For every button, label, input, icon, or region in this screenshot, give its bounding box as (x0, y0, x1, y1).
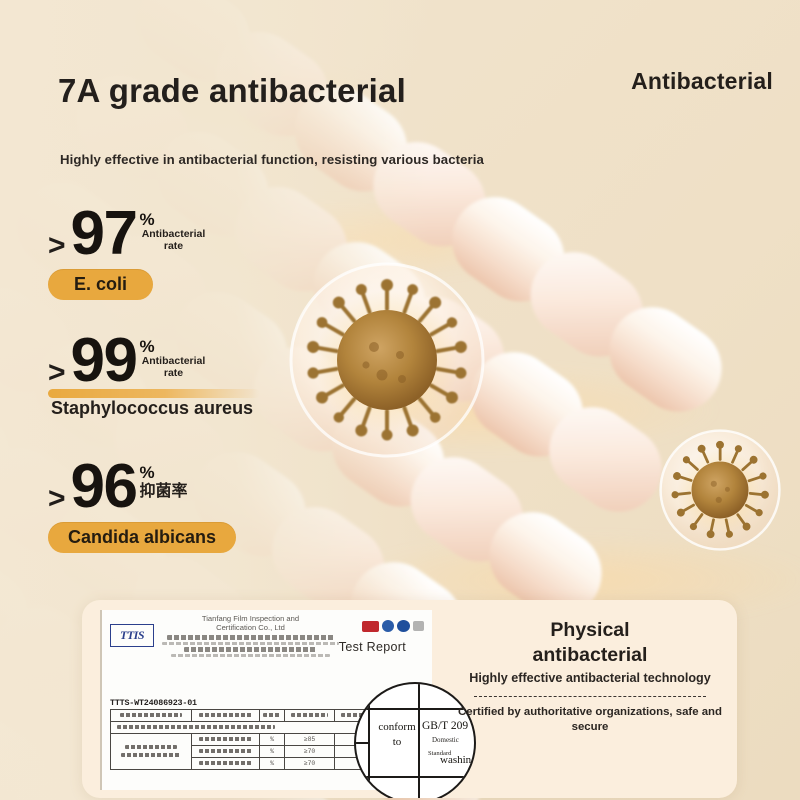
corner-label-antibacterial: Antibacterial (631, 68, 773, 95)
desc-text (199, 749, 251, 753)
divider (474, 696, 706, 697)
standard-cell: ≥85 (285, 734, 335, 746)
organism-text: Staphylococcus aureus (51, 398, 253, 418)
item-text (125, 745, 176, 749)
organism-badge-ecoli: E. coli (48, 269, 153, 300)
page-subtitle: Highly effective in antibacterial functi… (60, 152, 484, 167)
stat-block-ecoli: > 97 % Antibacterial rate E. coli (48, 205, 208, 300)
stat-rate-label: Antibacterial rate (140, 356, 208, 380)
report-title: Test Report (339, 640, 406, 654)
company-line-2: Certification Co., Ltd (158, 623, 343, 632)
stat-value: 97 (71, 205, 137, 262)
accreditation-badge-icon (382, 620, 394, 632)
company-line-1: Tianfang Film Inspection and (158, 614, 343, 623)
sample-text (117, 725, 275, 729)
company-chinese-sub-1 (162, 642, 340, 645)
col-desc (191, 710, 259, 722)
promo-title-line2: antibacterial (450, 643, 730, 668)
magnifier-conform-text: conform to (373, 720, 421, 750)
company-chinese-line-1 (167, 635, 334, 640)
product-infographic: 7A grade antibacterial Highly effective … (0, 0, 800, 800)
test-item (111, 734, 192, 770)
unit-cell: % (260, 734, 285, 746)
magnifier-domestic-text: Domestic (432, 736, 459, 744)
header-text (291, 713, 328, 717)
organism-desc (191, 734, 259, 746)
percent-symbol: % (140, 211, 208, 228)
magnifier-washing-text: washing (440, 754, 476, 766)
unit-cell: % (260, 758, 285, 770)
stat-rate-label: Antibacterial rate (140, 229, 208, 253)
standard-cell: ≥70 (285, 746, 335, 758)
header-text (263, 713, 281, 717)
comparator-symbol: > (48, 231, 66, 261)
certificate-header: TTIS Tianfang Film Inspection and Certif… (102, 610, 432, 662)
percent-symbol: % (140, 464, 188, 481)
comparator-symbol: > (48, 358, 66, 388)
col-item (111, 710, 192, 722)
promo-text-block: Physical antibacterial Highly effective … (450, 618, 730, 735)
ttis-logo-icon: TTIS (110, 624, 154, 647)
certification-mark-icon (413, 621, 424, 631)
promo-subtitle: Highly effective antibacterial technolog… (450, 670, 730, 687)
stat-rate-label-cn: 抑菌率 (140, 483, 188, 501)
header-text (199, 713, 251, 717)
virus-illustration-small (655, 425, 785, 555)
dvas-badge-icon (397, 620, 410, 632)
company-chinese-sub-2 (171, 654, 330, 657)
promo-title-line1: Physical (450, 618, 730, 643)
company-chinese-line-2 (184, 647, 317, 652)
cnas-badge-icon (362, 621, 379, 632)
desc-text (199, 737, 251, 741)
certification-company: Tianfang Film Inspection and Certificati… (158, 614, 343, 657)
accreditation-badges (362, 620, 424, 632)
highlight-bar (48, 389, 260, 398)
col-unit (260, 710, 285, 722)
organism-label-staph: Staphylococcus aureus (48, 398, 256, 419)
stat-block-staph: > 99 % Antibacterial rate Staphylococcus… (48, 332, 256, 419)
percent-symbol: % (140, 338, 208, 355)
desc-text (199, 761, 251, 765)
standard-cell: ≥70 (285, 758, 335, 770)
stat-value: 99 (71, 332, 137, 389)
col-standard (285, 710, 335, 722)
report-id: TTTS-WT24086923-01 (110, 698, 197, 708)
comparator-symbol: > (48, 484, 66, 514)
stat-value: 96 (71, 458, 137, 515)
ttis-logo-text: TTIS (120, 628, 144, 643)
organism-desc (191, 758, 259, 770)
stat-block-candida: > 96 % 抑菌率 Candida albicans (48, 458, 236, 553)
certificate-card: TTIS Tianfang Film Inspection and Certif… (82, 600, 737, 798)
unit-cell: % (260, 746, 285, 758)
item-method (121, 753, 180, 757)
organism-badge-candida: Candida albicans (48, 522, 236, 553)
page-title: 7A grade antibacterial (58, 72, 406, 110)
header-text (120, 713, 182, 717)
organism-desc (191, 746, 259, 758)
virus-illustration-large (282, 255, 492, 465)
promo-footnote: Certified by authoritative organizations… (450, 705, 730, 736)
